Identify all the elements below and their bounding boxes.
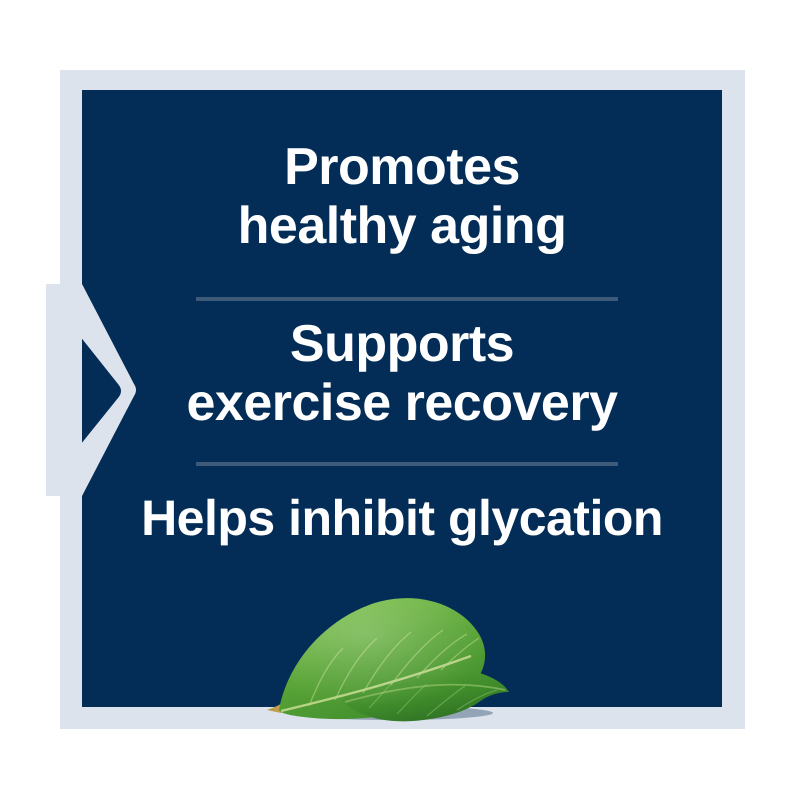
benefit-item-0: Promotes healthy aging xyxy=(82,138,722,257)
benefit-1-line-1: Supports xyxy=(82,315,722,374)
benefit-item-1: Supports exercise recovery xyxy=(82,315,722,434)
benefit-1-line-2: exercise recovery xyxy=(82,374,722,433)
benefit-divider-0 xyxy=(196,297,618,301)
promo-card: Promotes healthy aging Supports exercise… xyxy=(0,0,799,799)
benefit-0-line-1: Promotes xyxy=(82,138,722,197)
benefits-list: Promotes healthy aging Supports exercise… xyxy=(82,90,722,707)
benefit-divider-1 xyxy=(196,462,618,466)
benefit-2-line-1: Helps inhibit glycation xyxy=(82,490,722,547)
benefit-item-2: Helps inhibit glycation xyxy=(82,490,722,547)
benefit-0-line-2: healthy aging xyxy=(82,197,722,256)
